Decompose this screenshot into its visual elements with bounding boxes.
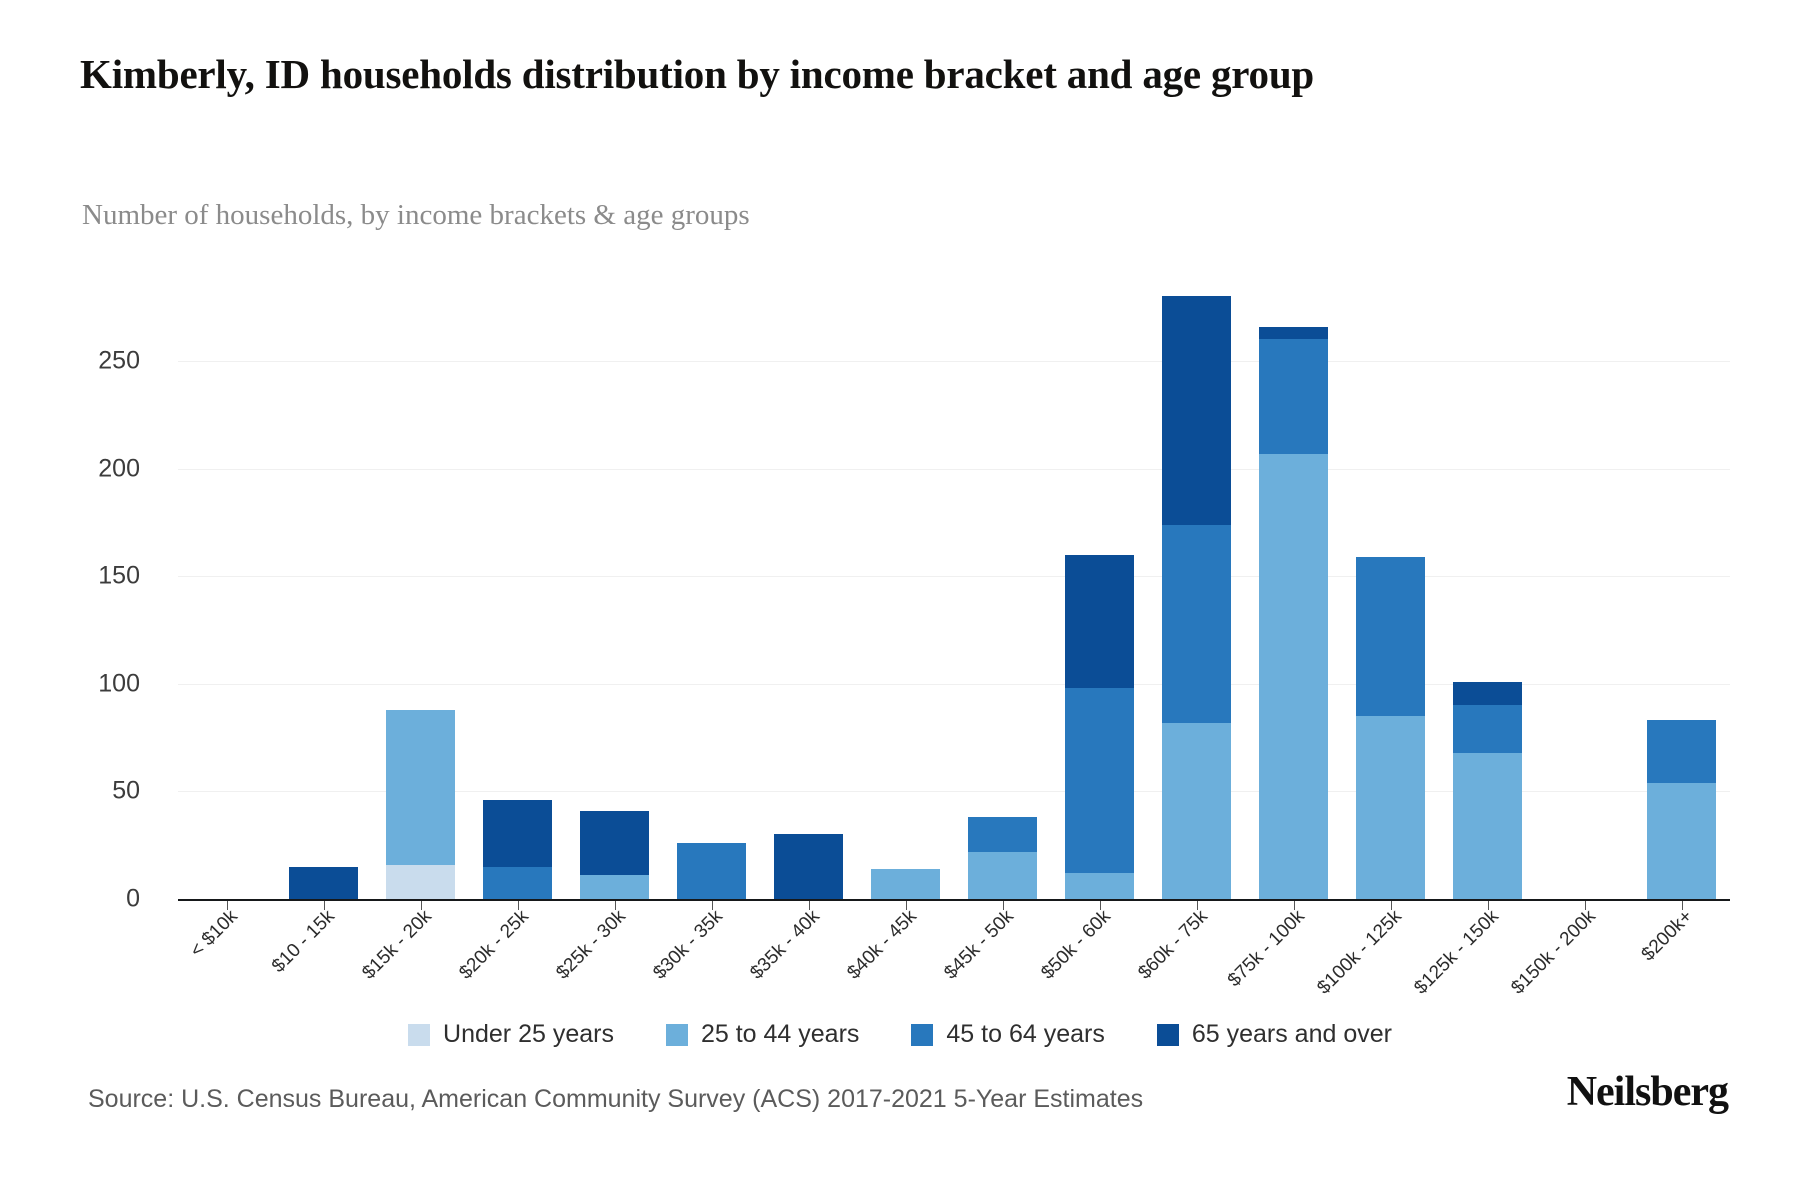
bar-segment[interactable] — [1453, 705, 1523, 752]
y-axis-tick-label: 250 — [20, 347, 140, 376]
y-axis-tick-label: 50 — [20, 777, 140, 806]
x-axis-line — [178, 899, 1730, 901]
bar-segment[interactable] — [1162, 296, 1232, 524]
chart-page: Kimberly, ID households distribution by … — [0, 0, 1800, 1200]
legend-label: Under 25 years — [443, 1020, 614, 1049]
bar-stack[interactable] — [289, 867, 359, 899]
bar-segment[interactable] — [1356, 716, 1426, 899]
bar-stack[interactable] — [871, 869, 941, 899]
legend-label: 25 to 44 years — [701, 1020, 859, 1049]
bar-segment[interactable] — [1259, 327, 1329, 340]
legend-item[interactable]: 45 to 64 years — [911, 1020, 1104, 1049]
chart-legend: Under 25 years25 to 44 years45 to 64 yea… — [0, 1020, 1800, 1049]
bar-segment[interactable] — [386, 710, 456, 865]
gridline — [178, 576, 1730, 577]
y-axis-tick-label: 100 — [20, 669, 140, 698]
bar-stack[interactable] — [1453, 682, 1523, 899]
bar-segment[interactable] — [1453, 753, 1523, 899]
bar-stack[interactable] — [677, 843, 747, 899]
bar-segment[interactable] — [968, 852, 1038, 899]
legend-item[interactable]: Under 25 years — [408, 1020, 614, 1049]
bar-segment[interactable] — [1356, 557, 1426, 716]
legend-label: 45 to 64 years — [946, 1020, 1104, 1049]
bar-segment[interactable] — [580, 875, 650, 899]
brand-logo: Neilsberg — [1567, 1068, 1728, 1116]
bar-segment[interactable] — [580, 811, 650, 876]
bar-segment[interactable] — [483, 800, 553, 867]
bar-segment[interactable] — [871, 869, 941, 899]
bar-segment[interactable] — [1162, 525, 1232, 723]
y-axis-tick-label: 150 — [20, 562, 140, 591]
bar-stack[interactable] — [1162, 296, 1232, 899]
bar-segment[interactable] — [1065, 555, 1135, 688]
bar-segment[interactable] — [1453, 682, 1523, 706]
bar-segment[interactable] — [1259, 454, 1329, 899]
gridline — [178, 469, 1730, 470]
bar-stack[interactable] — [580, 811, 650, 899]
bar-segment[interactable] — [1647, 720, 1717, 782]
bar-stack[interactable] — [968, 817, 1038, 899]
bar-stack[interactable] — [483, 800, 553, 899]
y-axis-tick-label: 200 — [20, 454, 140, 483]
y-axis-tick-label: 0 — [20, 885, 140, 914]
gridline — [178, 361, 1730, 362]
bar-segment[interactable] — [1647, 783, 1717, 899]
bar-segment[interactable] — [1259, 339, 1329, 453]
bar-stack[interactable] — [1065, 555, 1135, 899]
bar-segment[interactable] — [483, 867, 553, 899]
legend-swatch-icon — [666, 1024, 688, 1046]
bar-segment[interactable] — [386, 865, 456, 899]
bar-stack[interactable] — [1259, 327, 1329, 899]
bar-segment[interactable] — [1162, 723, 1232, 899]
legend-label: 65 years and over — [1192, 1020, 1392, 1049]
bar-segment[interactable] — [1065, 873, 1135, 899]
legend-item[interactable]: 65 years and over — [1157, 1020, 1392, 1049]
source-note: Source: U.S. Census Bureau, American Com… — [88, 1085, 1143, 1114]
bar-segment[interactable] — [289, 867, 359, 899]
legend-swatch-icon — [1157, 1024, 1179, 1046]
bar-stack[interactable] — [1647, 720, 1717, 899]
bar-stack[interactable] — [1356, 557, 1426, 899]
bar-segment[interactable] — [677, 843, 747, 899]
bar-stack[interactable] — [386, 710, 456, 899]
bar-segment[interactable] — [774, 834, 844, 899]
legend-swatch-icon — [911, 1024, 933, 1046]
bar-segment[interactable] — [1065, 688, 1135, 873]
bar-segment[interactable] — [968, 817, 1038, 851]
legend-swatch-icon — [408, 1024, 430, 1046]
legend-item[interactable]: 25 to 44 years — [666, 1020, 859, 1049]
bar-stack[interactable] — [774, 834, 844, 899]
